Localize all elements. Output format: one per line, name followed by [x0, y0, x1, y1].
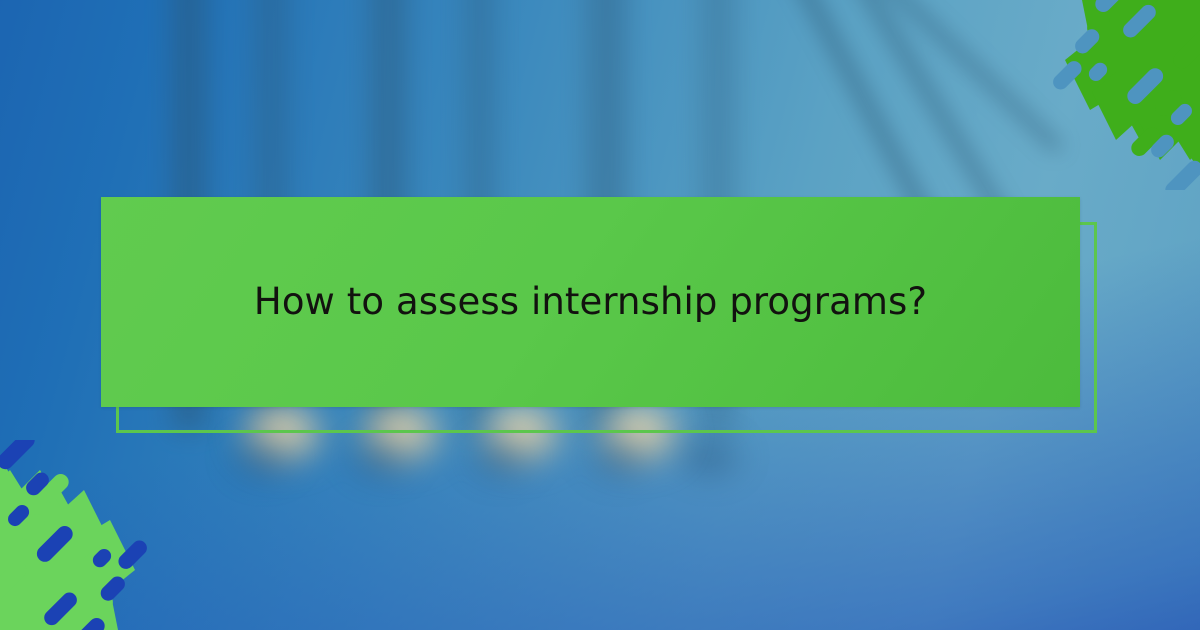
circuit-pattern-icon-top-right [1020, 0, 1200, 190]
social-banner: How to assess internship programs? [0, 0, 1200, 630]
background-shadow-blobs [200, 430, 760, 500]
headline-card: How to assess internship programs? [101, 197, 1080, 407]
page-title: How to assess internship programs? [214, 280, 967, 324]
circuit-pattern-icon-bottom-left [0, 440, 180, 630]
